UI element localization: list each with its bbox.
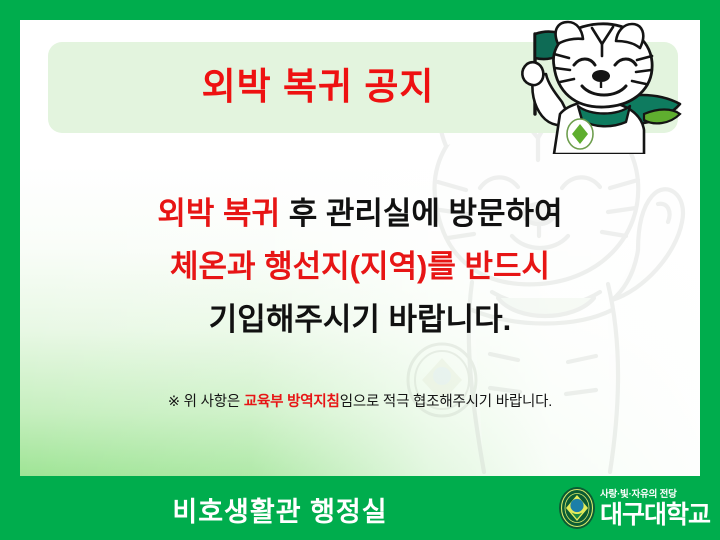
notice-footnote: ※ 위 사항은 교육부 방역지침임으로 적극 협조해주시기 바랍니다. bbox=[20, 390, 700, 411]
notice-body-line: 외박 복귀 후 관리실에 방문하여 bbox=[20, 187, 700, 240]
university-name: 대구대학교 bbox=[600, 502, 710, 528]
daegu-university-seal-icon bbox=[557, 486, 597, 530]
notice-body-segment: 후 관리실에 방문하여 bbox=[280, 196, 563, 231]
notice-body-segment: 체온과 행선지(지역)를 반드시 bbox=[170, 249, 550, 284]
poster-footer: 비호생활관 행정실 사랑·빛·자유의 전당 대구대학교 bbox=[0, 476, 720, 540]
notice-poster: 외박 복귀 공지 bbox=[0, 0, 720, 540]
footnote-lead-text: 위 사항은 bbox=[180, 394, 244, 410]
university-logo-lockup: 사랑·빛·자유의 전당 대구대학교 bbox=[557, 485, 710, 531]
notice-body-line: 기입해주시기 바랍니다. bbox=[20, 293, 700, 346]
footnote-tail-text: 임으로 적극 협조해주시기 바랍니다. bbox=[340, 394, 552, 410]
notice-body: 외박 복귀 후 관리실에 방문하여 체온과 행선지(지역)를 반드시 기입해주시… bbox=[20, 187, 700, 346]
university-logo-text: 사랑·빛·자유의 전당 대구대학교 bbox=[600, 489, 710, 528]
university-tagline: 사랑·빛·자유의 전당 bbox=[600, 489, 677, 501]
white-tiger-mascot-with-flag-icon bbox=[494, 20, 698, 154]
poster-inner-page: 외박 복귀 공지 bbox=[20, 20, 700, 476]
footnote-highlight-text: 교육부 방역지침 bbox=[244, 394, 340, 410]
notice-body-segment: 외박 복귀 bbox=[157, 196, 280, 231]
notice-body-segment: 기입해주시기 바랍니다. bbox=[209, 302, 511, 337]
notice-body-line: 체온과 행선지(지역)를 반드시 bbox=[20, 240, 700, 293]
reference-mark-icon: ※ bbox=[168, 394, 180, 410]
